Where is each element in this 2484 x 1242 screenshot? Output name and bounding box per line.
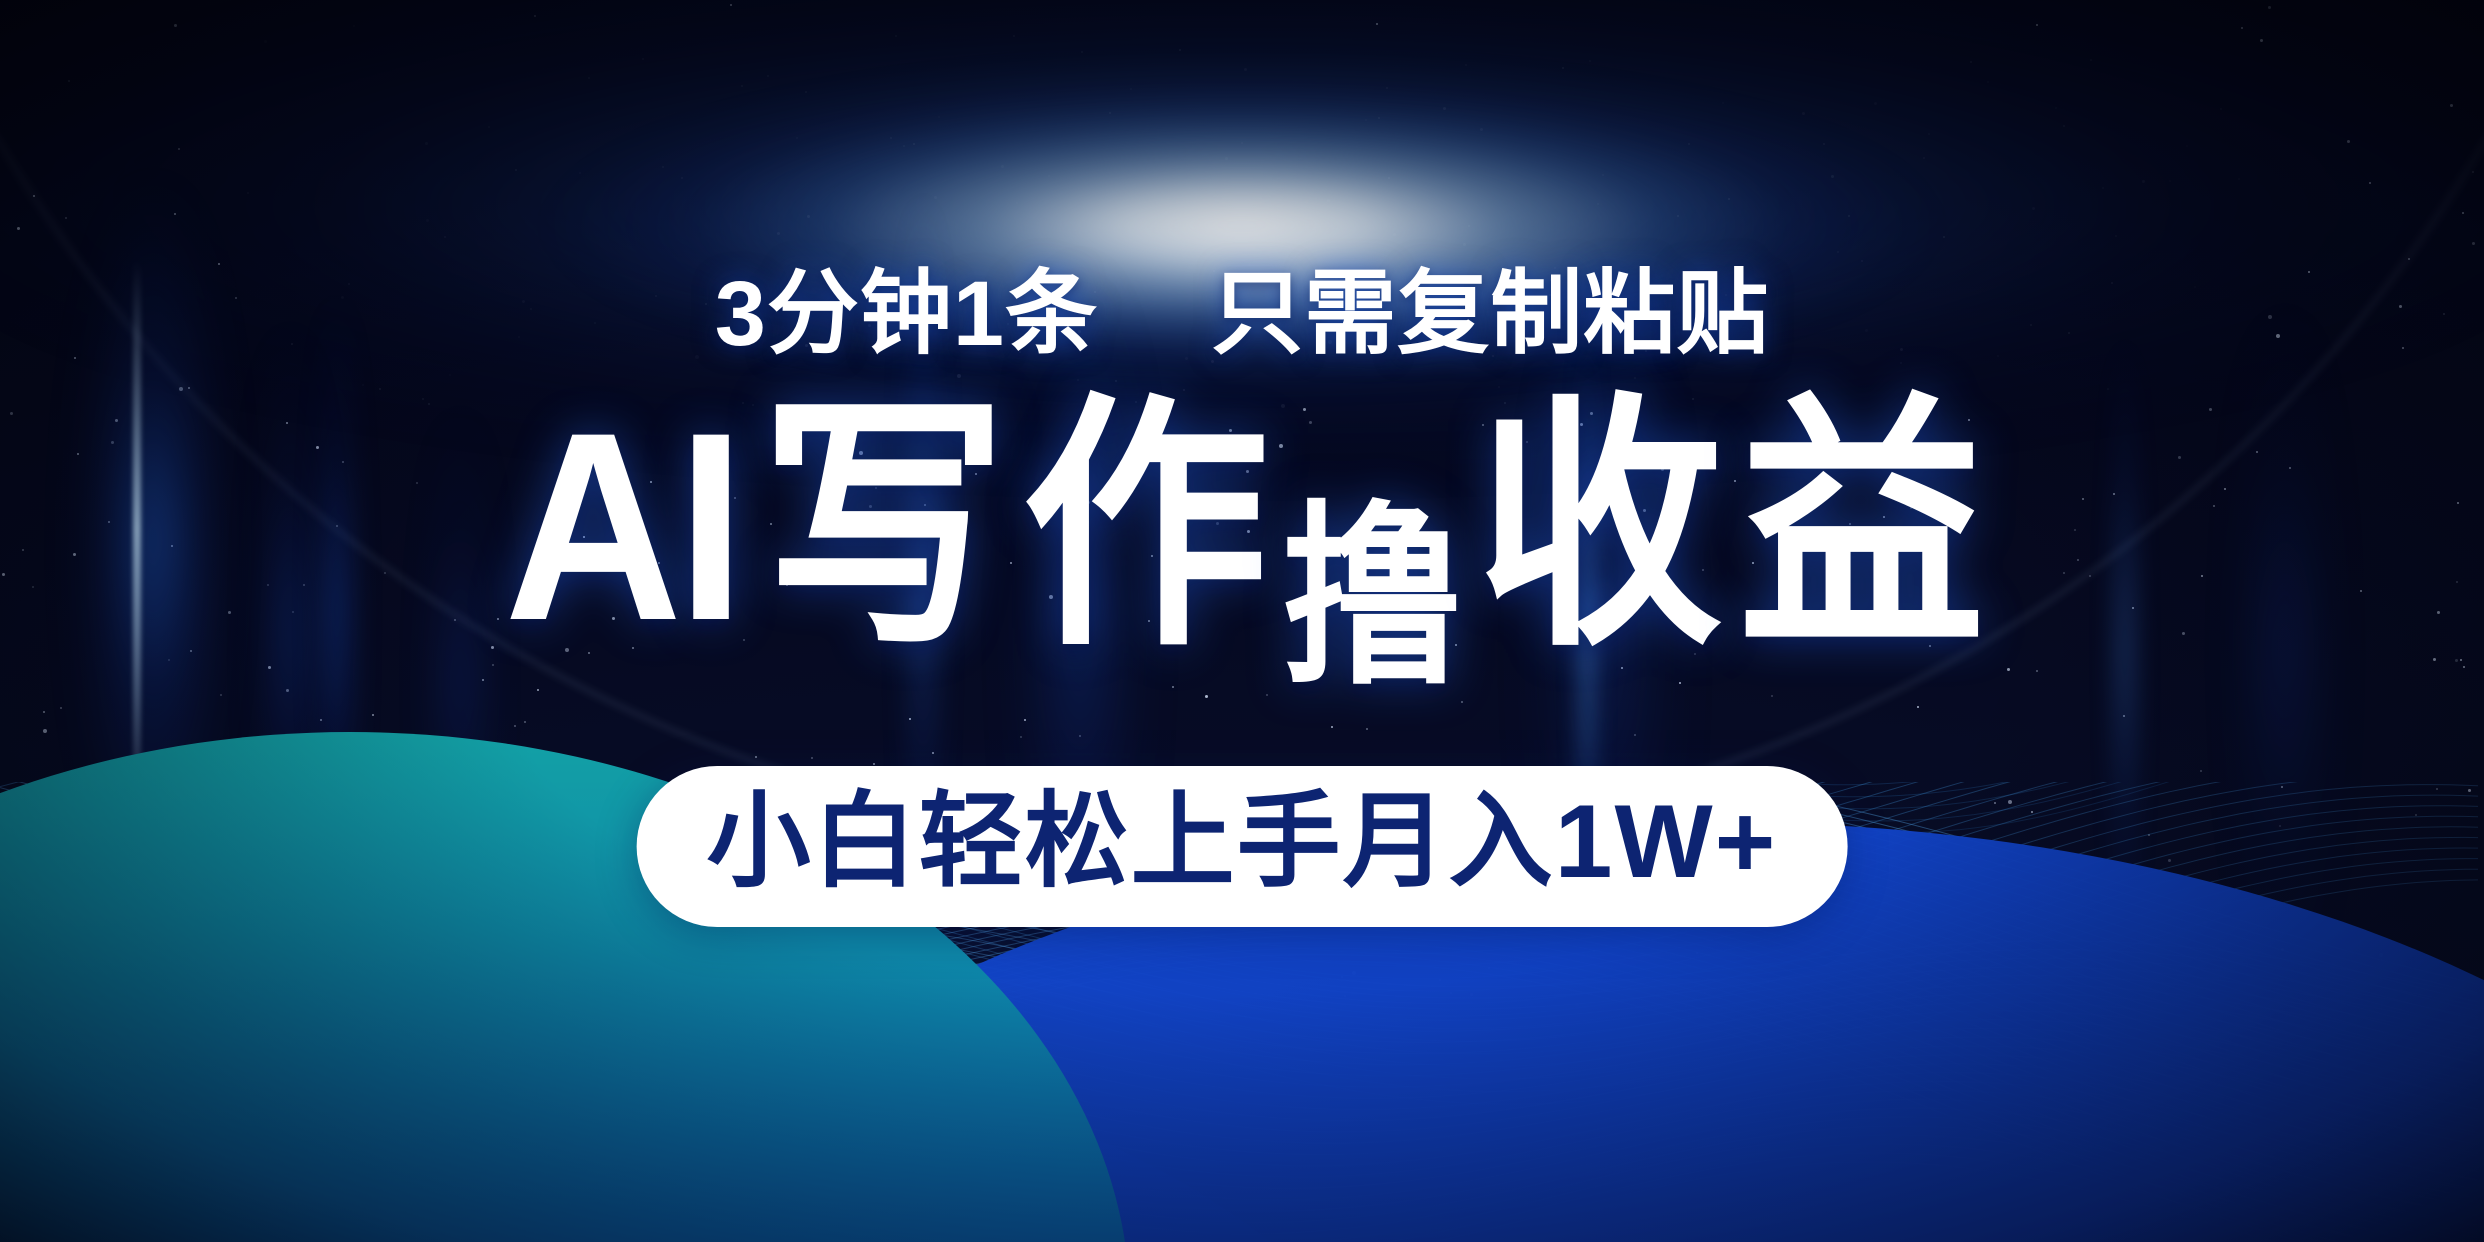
headline-char: 作 [1022, 392, 1263, 660]
headline-char: 撸 [1282, 500, 1459, 696]
headline-char: AI [504, 392, 740, 660]
headline-char: 收 [1476, 392, 1717, 660]
status-badge-label: 小白轻松上手月入1W+ [707, 782, 1778, 903]
status-badge: 小白轻松上手月入1W+ [637, 766, 1848, 927]
content-layer: 3分钟1条 只需复制粘贴 AI写作撸收益 小白轻松上手月入1W+ [0, 0, 2484, 1242]
headline-char: 写 [760, 392, 1001, 660]
subtitle-line: 3分钟1条 只需复制粘贴 [0, 268, 2484, 360]
subtitle-left: 3分钟1条 [715, 263, 1098, 365]
poster-canvas: 3分钟1条 只需复制粘贴 AI写作撸收益 小白轻松上手月入1W+ [0, 0, 2484, 1242]
headline-char: 益 [1738, 392, 1979, 660]
page-title: AI写作撸收益 [0, 392, 2484, 696]
subtitle-right: 只需复制粘贴 [1211, 263, 1769, 365]
